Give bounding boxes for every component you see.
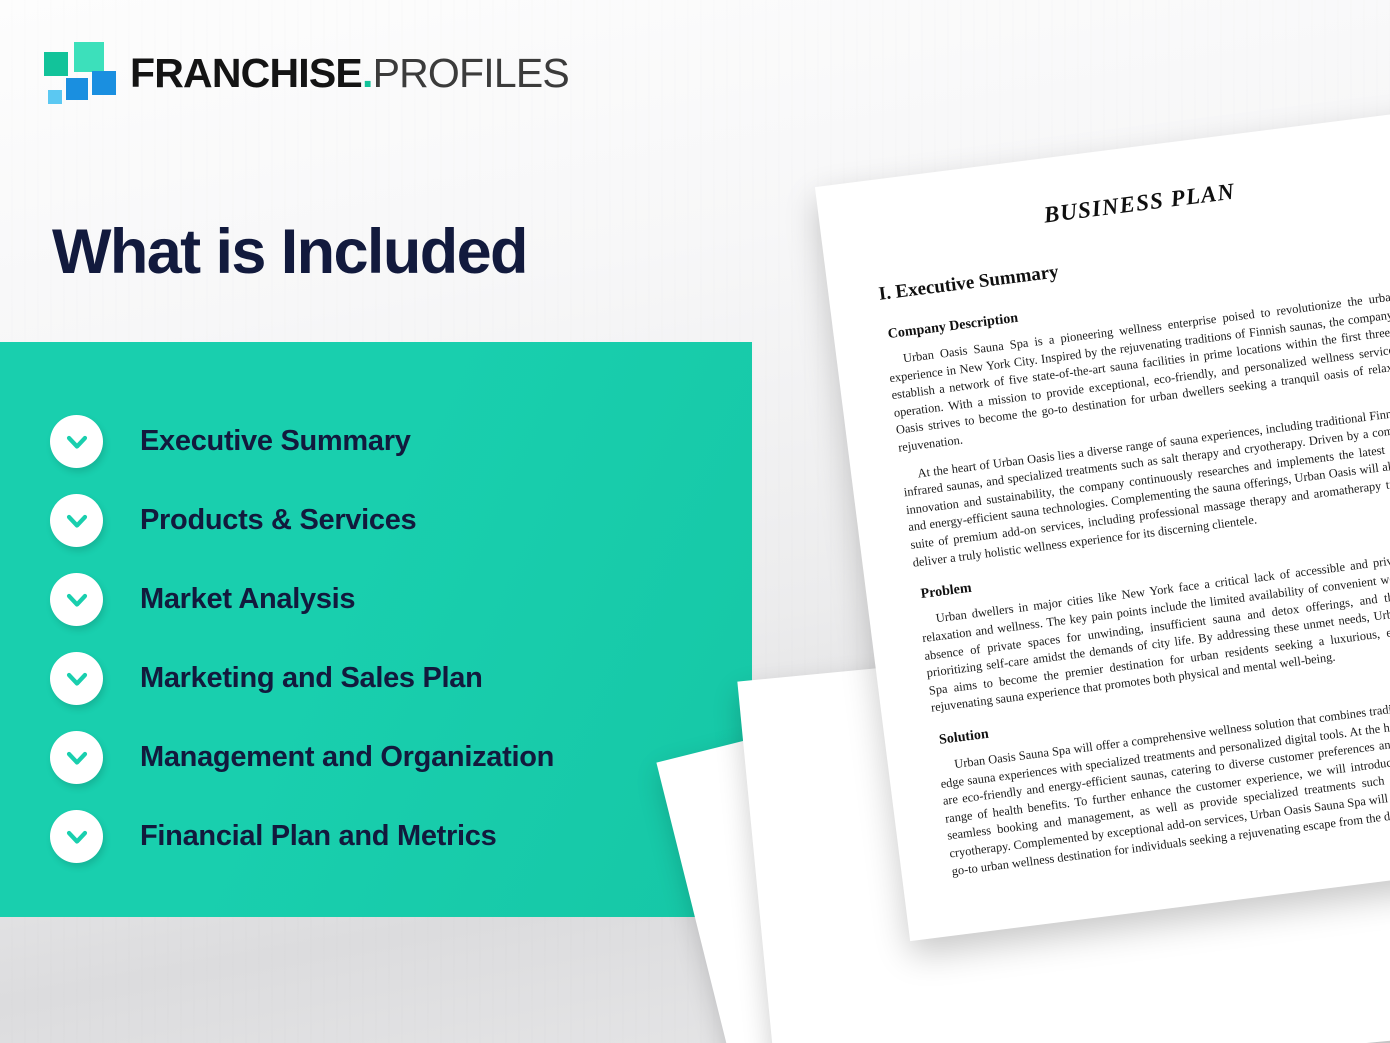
- chevron-down-icon: [50, 810, 103, 863]
- list-item-label: Executive Summary: [140, 425, 411, 458]
- logo-squares-icon: [44, 42, 110, 104]
- brand-name-bold: FRANCHISE: [130, 50, 362, 96]
- logo-square-lightblue: [48, 90, 62, 104]
- chevron-down-icon: [50, 415, 103, 468]
- list-item-label: Market Analysis: [140, 583, 355, 616]
- document-page-front: BUSINESS PLAN I. Executive Summary Compa…: [815, 107, 1390, 941]
- list-item[interactable]: Financial Plan and Metrics: [50, 797, 750, 876]
- brand-name-light: PROFILES: [373, 50, 569, 96]
- chevron-down-icon: [50, 731, 103, 784]
- list-item[interactable]: Management and Organization: [50, 718, 750, 797]
- list-item-label: Products & Services: [140, 504, 416, 537]
- slide-canvas: FRANCHISE.PROFILES What is Included Exec…: [0, 0, 1390, 1043]
- page-title: What is Included: [52, 216, 527, 288]
- list-item-label: Marketing and Sales Plan: [140, 662, 483, 695]
- chevron-down-icon: [50, 494, 103, 547]
- list-item[interactable]: Executive Summary: [50, 402, 750, 481]
- brand-wordmark: FRANCHISE.PROFILES: [130, 53, 569, 94]
- logo-square-blue-small: [66, 78, 88, 100]
- document-stack: by exceptional an wellness mands of city…: [660, 130, 1390, 1043]
- logo-square-teal: [74, 42, 104, 72]
- brand-logo[interactable]: FRANCHISE.PROFILES: [44, 42, 569, 104]
- brand-name-dot: .: [362, 50, 373, 96]
- list-item[interactable]: Marketing and Sales Plan: [50, 639, 750, 718]
- list-item[interactable]: Products & Services: [50, 481, 750, 560]
- included-features-list: Executive Summary Products & Services Ma…: [50, 402, 750, 876]
- list-item[interactable]: Market Analysis: [50, 560, 750, 639]
- logo-square-green: [44, 52, 68, 76]
- list-item-label: Management and Organization: [140, 741, 554, 774]
- chevron-down-icon: [50, 652, 103, 705]
- logo-square-blue: [92, 71, 116, 95]
- chevron-down-icon: [50, 573, 103, 626]
- list-item-label: Financial Plan and Metrics: [140, 820, 496, 853]
